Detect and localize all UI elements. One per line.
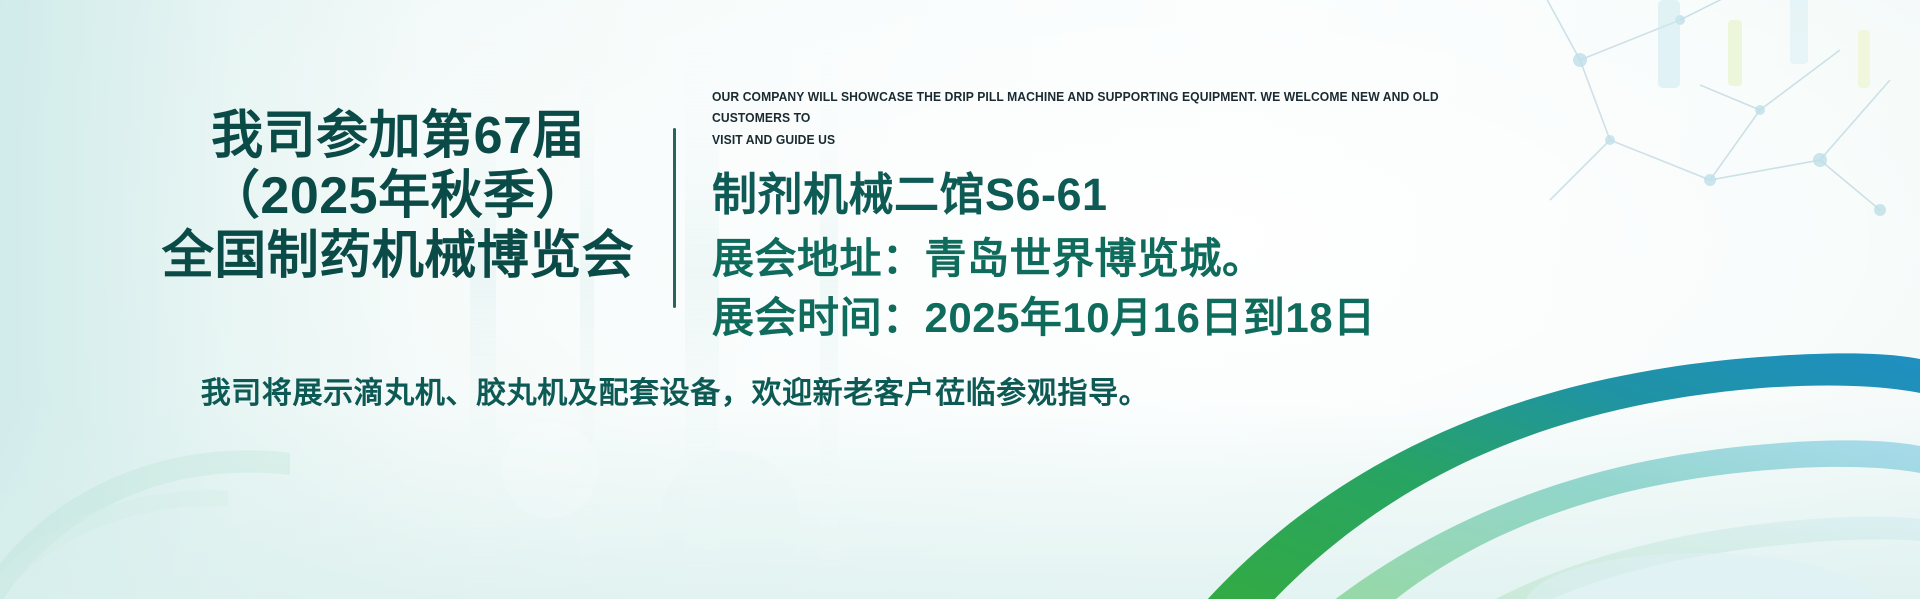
left-background-wash bbox=[0, 0, 420, 599]
venue-address: 展会地址：青岛世界博览城。 bbox=[712, 235, 1842, 283]
main-title-line-3: 全国制药机械博览会 bbox=[120, 226, 676, 286]
exhibition-banner: 我司参加第67届 （2025年秋季） 全国制药机械博览会 OUR COMPANY… bbox=[0, 0, 1920, 599]
vertical-divider bbox=[673, 128, 676, 308]
leaf-curve-decoration bbox=[0, 399, 300, 599]
main-title-line-2: （2025年秋季） bbox=[120, 166, 676, 226]
event-date: 展会时间：2025年10月16日到18日 bbox=[712, 294, 1842, 342]
english-description-line-2: VISIT AND GUIDE US bbox=[712, 129, 1477, 150]
english-description: OUR COMPANY WILL SHOWCASE THE DRIP PILL … bbox=[712, 86, 1477, 150]
main-title: 我司参加第67届 （2025年秋季） 全国制药机械博览会 bbox=[120, 106, 676, 286]
english-description-line-1: OUR COMPANY WILL SHOWCASE THE DRIP PILL … bbox=[712, 86, 1477, 129]
bottom-background-wash bbox=[0, 399, 1920, 599]
details-column: OUR COMPANY WILL SHOWCASE THE DRIP PILL … bbox=[712, 86, 1842, 342]
main-title-line-1: 我司参加第67届 bbox=[120, 106, 676, 166]
booth-location: 制剂机械二馆S6-61 bbox=[712, 170, 1842, 220]
bottom-caption: 我司将展示滴丸机、胶丸机及配套设备，欢迎新老客户莅临参观指导。 bbox=[0, 368, 1350, 412]
